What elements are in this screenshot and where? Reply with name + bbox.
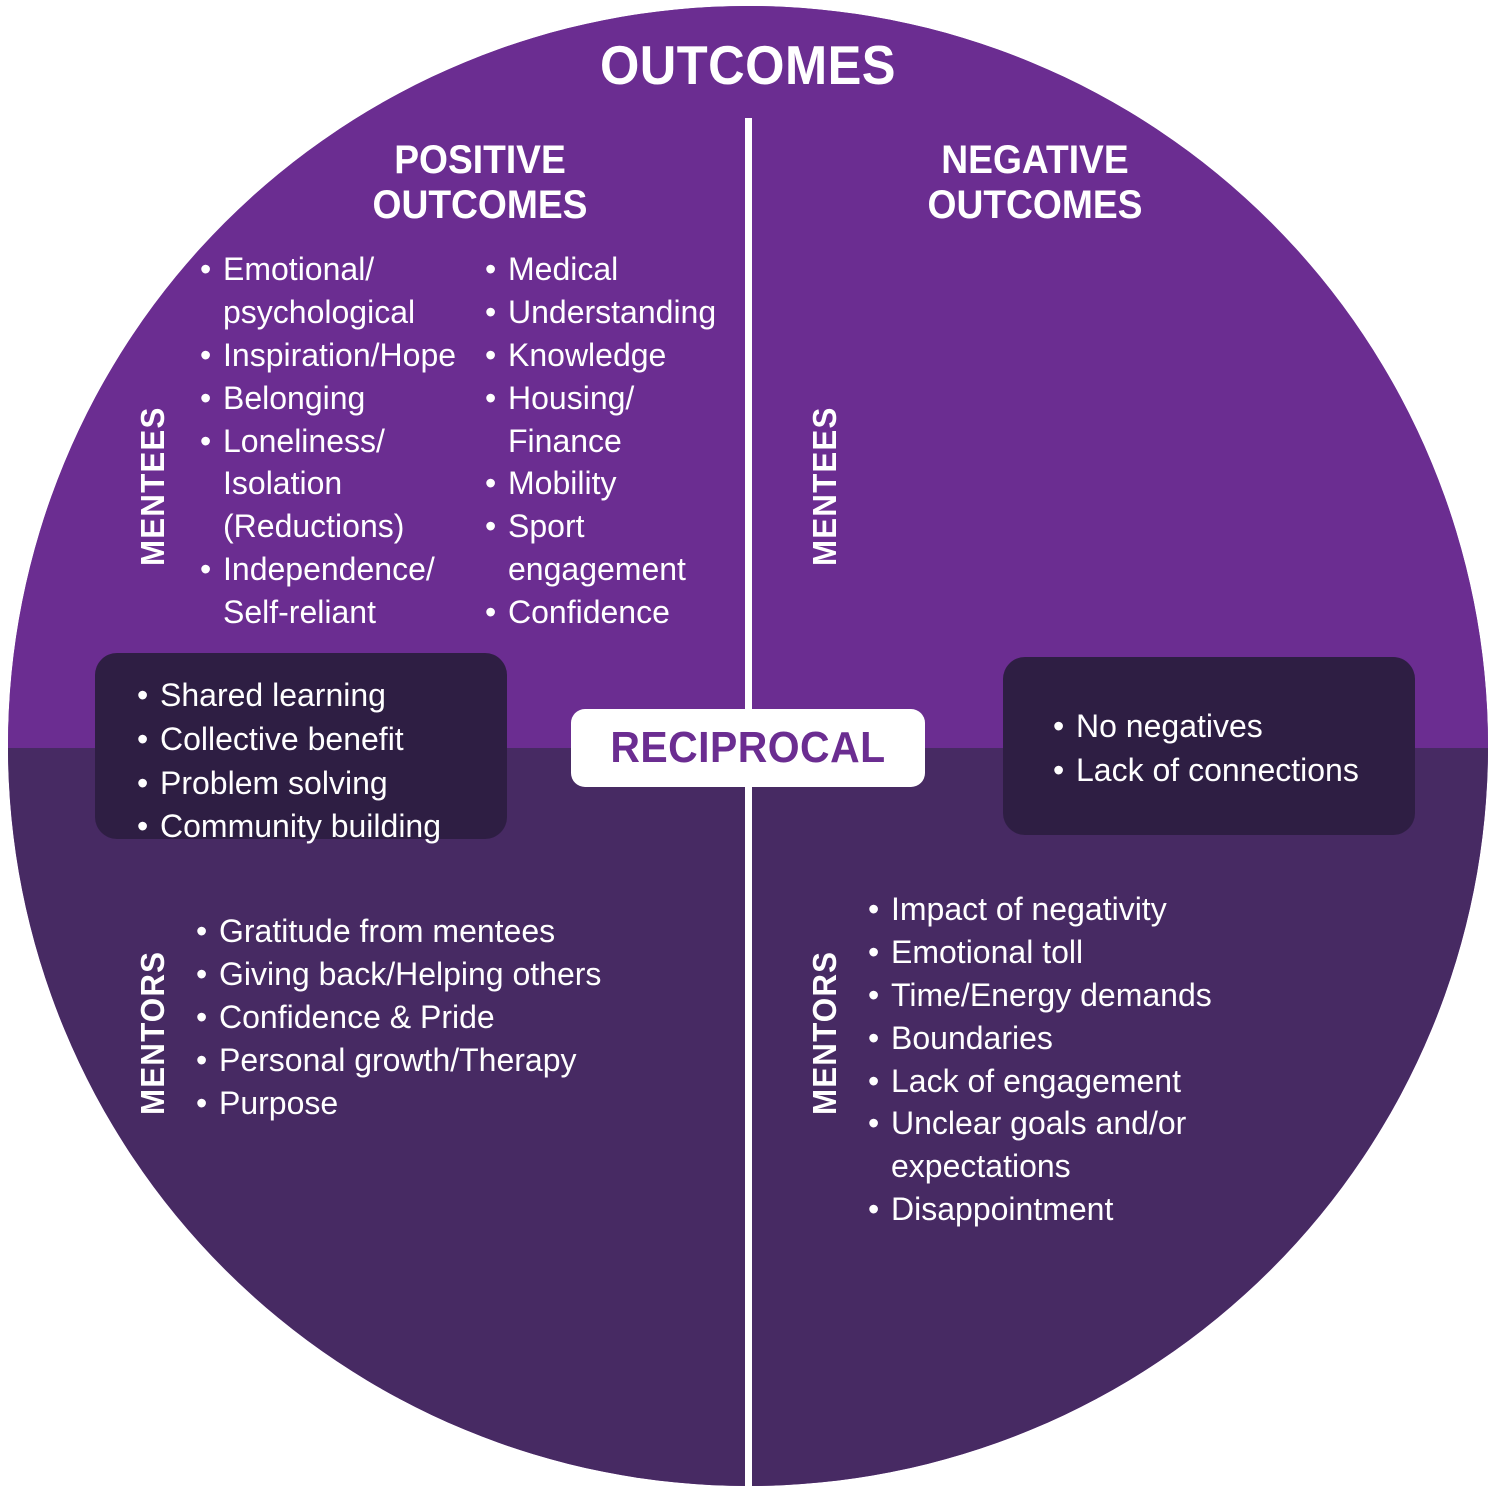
list-item: psychological	[200, 291, 490, 334]
side-label-mentors-negative: MENTORS	[806, 951, 844, 1115]
list-item: No negatives	[1053, 705, 1359, 749]
negative-outcomes-heading: NEGATIVEOUTCOMES	[807, 138, 1263, 228]
list-item: Finance	[485, 420, 760, 463]
positive-mentees-list-column-b: MedicalUnderstandingKnowledgeHousing/Fin…	[485, 248, 760, 634]
list-item: Unclear goals and/or	[868, 1102, 1268, 1145]
reciprocal-badge: RECIPROCAL	[571, 709, 925, 787]
list-item: Lack of connections	[1053, 749, 1359, 793]
side-label-mentees-negative: MENTEES	[806, 406, 844, 566]
list-item: Knowledge	[485, 334, 760, 377]
list-item: Lack of engagement	[868, 1060, 1268, 1103]
list-item: Loneliness/	[200, 420, 490, 463]
list-item: Giving back/Helping others	[196, 953, 716, 996]
list-item: Gratitude from mentees	[196, 910, 716, 953]
list-item: engagement	[485, 548, 760, 591]
positive-mentors-list: Gratitude from menteesGiving back/Helpin…	[196, 910, 716, 1124]
list-item: Understanding	[485, 291, 760, 334]
list-item: Collective benefit	[137, 718, 441, 762]
list-item: Boundaries	[868, 1017, 1268, 1060]
list-item: Purpose	[196, 1082, 716, 1125]
reciprocal-positive-list: Shared learningCollective benefitProblem…	[137, 674, 441, 849]
list-item: expectations	[868, 1145, 1268, 1188]
reciprocal-box-negative: No negativesLack of connections	[1003, 657, 1415, 835]
list-item: Housing/	[485, 377, 760, 420]
list-item: Personal growth/Therapy	[196, 1039, 716, 1082]
reciprocal-negative-list: No negativesLack of connections	[1053, 705, 1359, 793]
side-label-mentees-positive: MENTEES	[134, 406, 172, 566]
list-item: Mobility	[485, 462, 760, 505]
list-item: Community building	[137, 805, 441, 849]
list-item: Inspiration/Hope	[200, 334, 490, 377]
list-item: Confidence	[485, 591, 760, 634]
page-title: OUTCOMES	[60, 33, 1436, 97]
outcomes-diagram: OUTCOMES POSITIVEOUTCOMES NEGATIVEOUTCOM…	[0, 0, 1496, 1497]
list-item: Medical	[485, 248, 760, 291]
reciprocal-box-positive: Shared learningCollective benefitProblem…	[95, 653, 507, 839]
list-item: Time/Energy demands	[868, 974, 1268, 1017]
list-item: Shared learning	[137, 674, 441, 718]
negative-mentors-list: Impact of negativityEmotional tollTime/E…	[868, 888, 1268, 1231]
list-item: Disappointment	[868, 1188, 1268, 1231]
list-item: Self-reliant	[200, 591, 490, 634]
list-item: Emotional/	[200, 248, 490, 291]
list-item: Independence/	[200, 548, 490, 591]
list-item: Isolation	[200, 462, 490, 505]
positive-mentees-list-column-a: Emotional/psychologicalInspiration/HopeB…	[200, 248, 490, 634]
list-item: Emotional toll	[868, 931, 1268, 974]
list-item: Sport	[485, 505, 760, 548]
side-label-mentors-positive: MENTORS	[134, 951, 172, 1115]
list-item: Confidence & Pride	[196, 996, 716, 1039]
positive-outcomes-heading: POSITIVEOUTCOMES	[266, 138, 694, 228]
reciprocal-badge-label: RECIPROCAL	[610, 723, 885, 773]
list-item: (Reductions)	[200, 505, 490, 548]
list-item: Problem solving	[137, 762, 441, 806]
list-item: Impact of negativity	[868, 888, 1268, 931]
list-item: Belonging	[200, 377, 490, 420]
